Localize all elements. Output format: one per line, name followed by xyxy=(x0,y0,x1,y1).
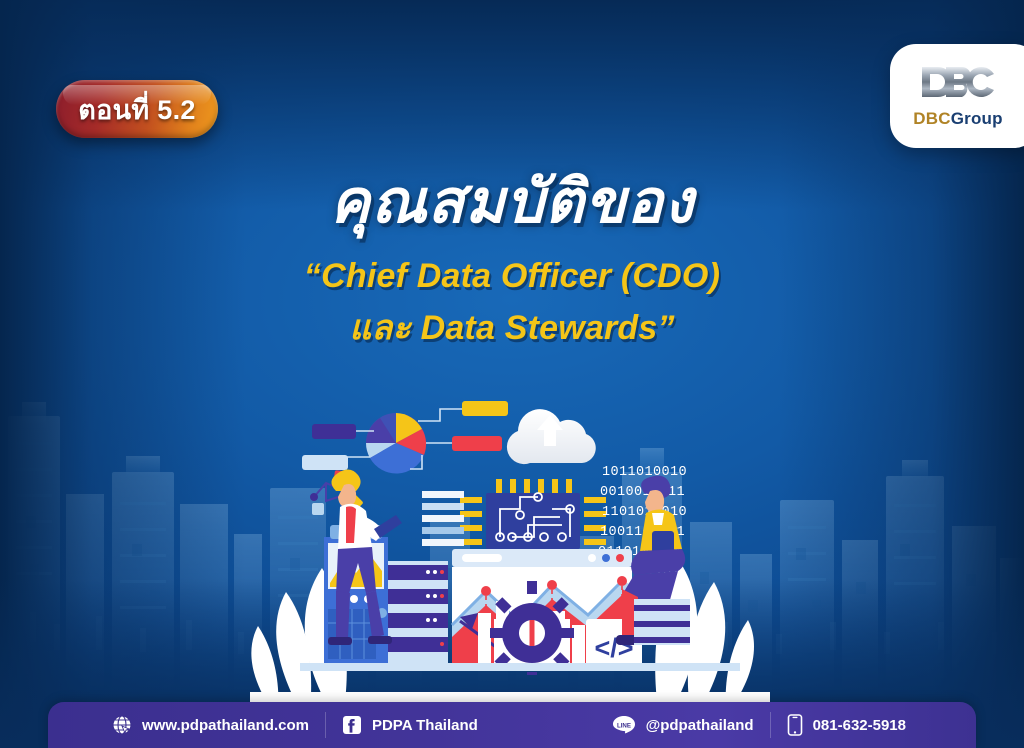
footer-item-phone[interactable]: 081-632-5918 xyxy=(771,702,922,748)
footer-line-label: @pdpathailand xyxy=(646,717,754,734)
footer-item-line[interactable]: LINE @pdpathailand xyxy=(596,702,770,748)
logo-wordmark: DBCGroup xyxy=(913,109,1002,129)
circuit-board-icon xyxy=(460,479,606,549)
page-subtitle-line-1: “Chief Data Officer (CDO) xyxy=(0,251,1024,303)
footer-website-label: www.pdpathailand.com xyxy=(142,717,309,734)
logo-word-group: Group xyxy=(951,109,1003,128)
facebook-icon xyxy=(342,715,362,735)
data-analytics-illustration: 1011010010 0010011011 1101011010 1001101… xyxy=(300,385,740,675)
line-icon: LINE xyxy=(612,715,636,735)
svg-text:LINE: LINE xyxy=(617,722,631,729)
dbc-monogram-icon xyxy=(920,64,996,105)
page-subtitle-line-2: และ Data Stewards” xyxy=(0,303,1024,355)
pie-chart-icon xyxy=(366,413,426,474)
slide-canvas: ตอนที่ 5.2 xyxy=(0,0,1024,748)
episode-badge: ตอนที่ 5.2 xyxy=(56,80,218,138)
document-bars xyxy=(422,491,464,546)
binary-row-0: 1011010010 xyxy=(602,465,687,480)
footer-item-website[interactable]: www.pdpathailand.com xyxy=(96,702,325,748)
logo-word-dbc: DBC xyxy=(913,109,950,128)
page-title: คุณสมบัติของ xyxy=(0,168,1024,235)
cloud-upload-icon xyxy=(507,409,596,464)
globe-icon xyxy=(112,715,132,735)
brand-logo-card[interactable]: DBCGroup xyxy=(890,44,1024,148)
page-subtitle: “Chief Data Officer (CDO) และ Data Stewa… xyxy=(0,251,1024,354)
episode-badge-label: ตอนที่ 5.2 xyxy=(78,88,195,131)
footer-phone-label: 081-632-5918 xyxy=(813,717,906,734)
footer-contact-bar: www.pdpathailand.com PDPA Thailand LINE … xyxy=(48,702,976,748)
phone-icon xyxy=(787,714,803,736)
server-rack-icon xyxy=(386,561,448,663)
footer-item-facebook[interactable]: PDPA Thailand xyxy=(326,702,494,748)
footer-facebook-label: PDPA Thailand xyxy=(372,717,478,734)
title-block: คุณสมบัติของ “Chief Data Officer (CDO) แ… xyxy=(0,168,1024,355)
